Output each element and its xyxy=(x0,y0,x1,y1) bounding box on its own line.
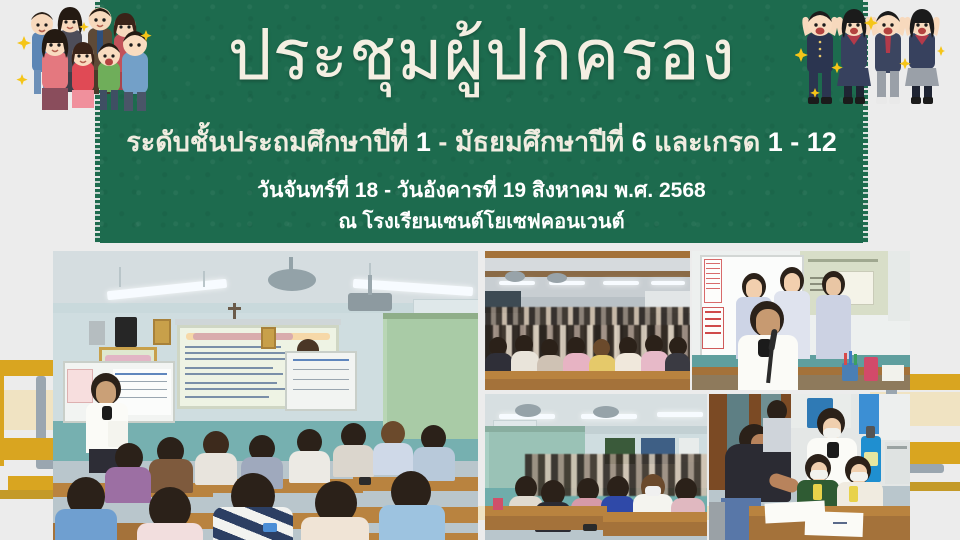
cheering-students-illustration xyxy=(795,0,945,112)
banner-panel: ประชุมผู้ปกครอง ระดับชั้นประถมศึกษาปีที่… xyxy=(95,0,868,243)
subtitle-seg-3: 6 xyxy=(632,127,647,157)
photo-speaker-with-students xyxy=(692,251,910,390)
family-group-illustration xyxy=(14,0,154,112)
event-venue: ณ โรงเรียนเซนต์โยเซฟคอนเวนต์ xyxy=(95,209,868,235)
subtitle-seg-4: และเกรด xyxy=(647,127,768,157)
poster-canvas: ประชุมผู้ปกครอง ระดับชั้นประถมศึกษาปีที่… xyxy=(0,0,960,540)
page-title: ประชุมผู้ปกครอง xyxy=(95,14,868,96)
photo-auditorium-audience xyxy=(485,251,690,390)
grade-range-subtitle: ระดับชั้นประถมศึกษาปีที่ 1 - มัธยมศึกษาป… xyxy=(95,125,868,159)
subtitle-seg-0: ระดับชั้นประถมศึกษาปีที่ xyxy=(126,127,416,157)
photo-registration-desk xyxy=(709,394,910,540)
event-date: วันจันทร์ที่ 18 - วันอังคารที่ 19 สิงหาค… xyxy=(95,177,868,204)
subtitle-seg-1: 1 xyxy=(416,127,431,157)
photo-classroom-presentation xyxy=(53,251,478,540)
subtitle-seg-2: - มัธยมศึกษาปีที่ xyxy=(431,127,632,157)
subtitle-seg-5: 1 - 12 xyxy=(768,127,837,157)
photo-classroom-parents xyxy=(485,394,707,540)
